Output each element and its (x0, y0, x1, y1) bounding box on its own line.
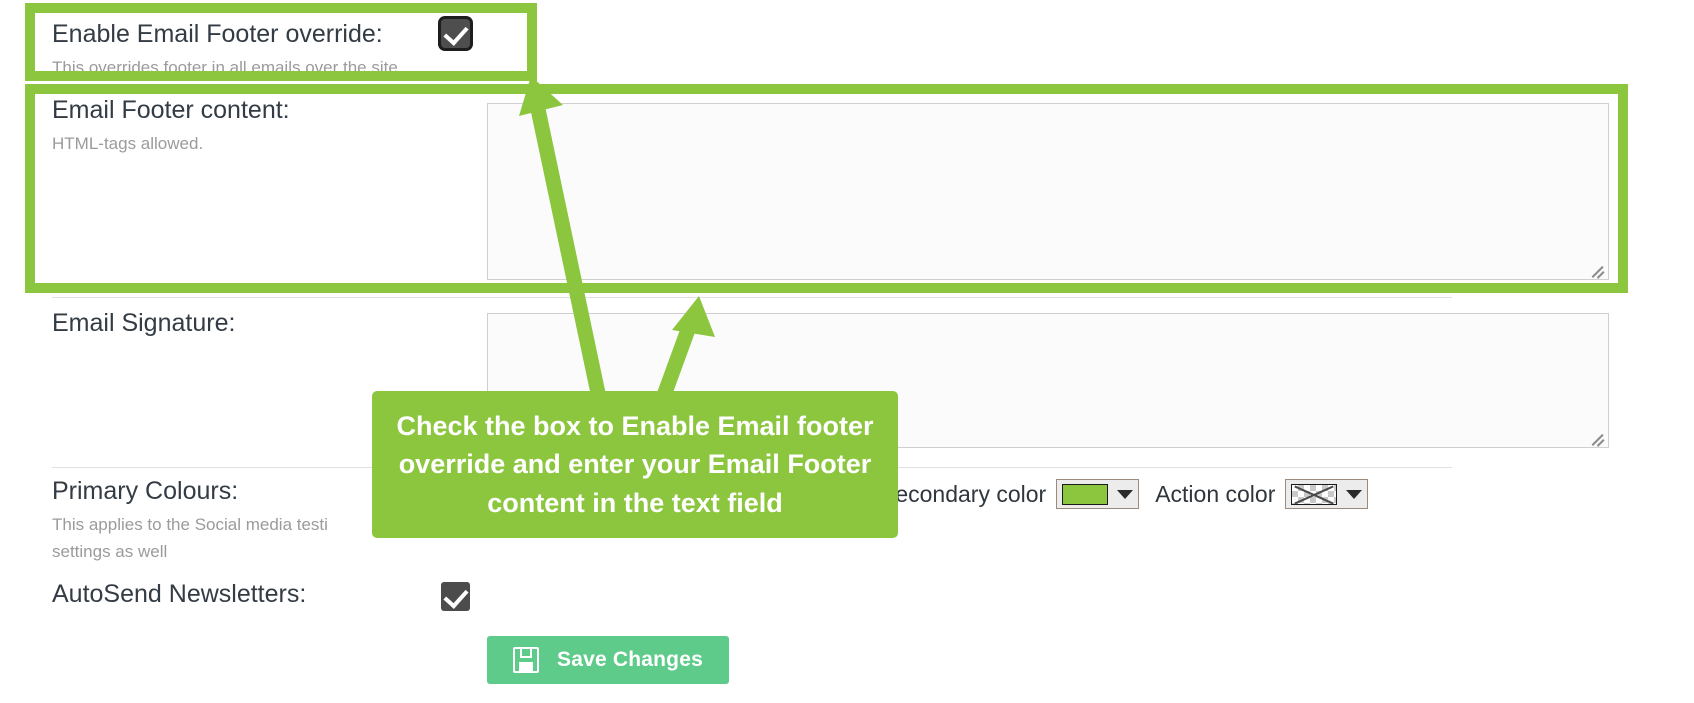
label-col-autosend-newsletters: AutoSend Newsletters: (52, 580, 482, 609)
email-footer-content-label: Email Footer content: (52, 96, 482, 125)
instruction-callout: Check the box to Enable Email footer ove… (372, 391, 898, 538)
label-col-email-footer-content: Email Footer content: HTML-tags allowed. (52, 96, 482, 156)
autosend-newsletters-label: AutoSend Newsletters: (52, 580, 482, 609)
check-icon (443, 583, 468, 609)
resize-handle-icon[interactable] (1589, 260, 1605, 276)
row-enable-email-footer-override: Enable Email Footer override: This overr… (0, 12, 1600, 74)
secondary-color-label: Secondary color (880, 481, 1046, 508)
enable-email-footer-override-label: Enable Email Footer override: (52, 20, 482, 49)
action-color-label: Action color (1155, 481, 1275, 508)
chevron-down-icon[interactable] (1346, 490, 1362, 499)
chevron-down-icon[interactable] (1117, 490, 1133, 499)
action-color-picker[interactable] (1285, 479, 1368, 509)
autosend-newsletters-checkbox[interactable] (441, 582, 470, 611)
enable-email-footer-override-checkbox[interactable] (441, 19, 470, 48)
label-col-email-signature: Email Signature: (52, 309, 482, 338)
enable-email-footer-override-hint: This overrides footer in all emails over… (52, 55, 452, 81)
save-changes-button[interactable]: Save Changes (487, 636, 729, 684)
email-signature-label: Email Signature: (52, 309, 482, 338)
divider-2 (52, 297, 1452, 298)
resize-handle-icon[interactable] (1589, 428, 1605, 444)
save-changes-label: Save Changes (557, 648, 703, 672)
email-footer-content-hint: HTML-tags allowed. (52, 131, 452, 157)
floppy-disk-icon (513, 647, 539, 673)
action-color-swatch-transparent[interactable] (1291, 484, 1337, 505)
divider-1 (52, 84, 1452, 85)
secondary-color-swatch[interactable] (1062, 484, 1108, 505)
settings-form-screenshot: Enable Email Footer override: This overr… (0, 0, 1694, 703)
primary-colours-hint-line-2: settings as well (52, 539, 452, 565)
label-col-enable-override: Enable Email Footer override: This overr… (52, 20, 482, 80)
check-icon (443, 20, 468, 46)
primary-colours-pickers: Secondary color Action color (880, 479, 1384, 509)
secondary-color-picker[interactable] (1056, 479, 1139, 509)
email-footer-content-textarea[interactable] (487, 103, 1609, 280)
